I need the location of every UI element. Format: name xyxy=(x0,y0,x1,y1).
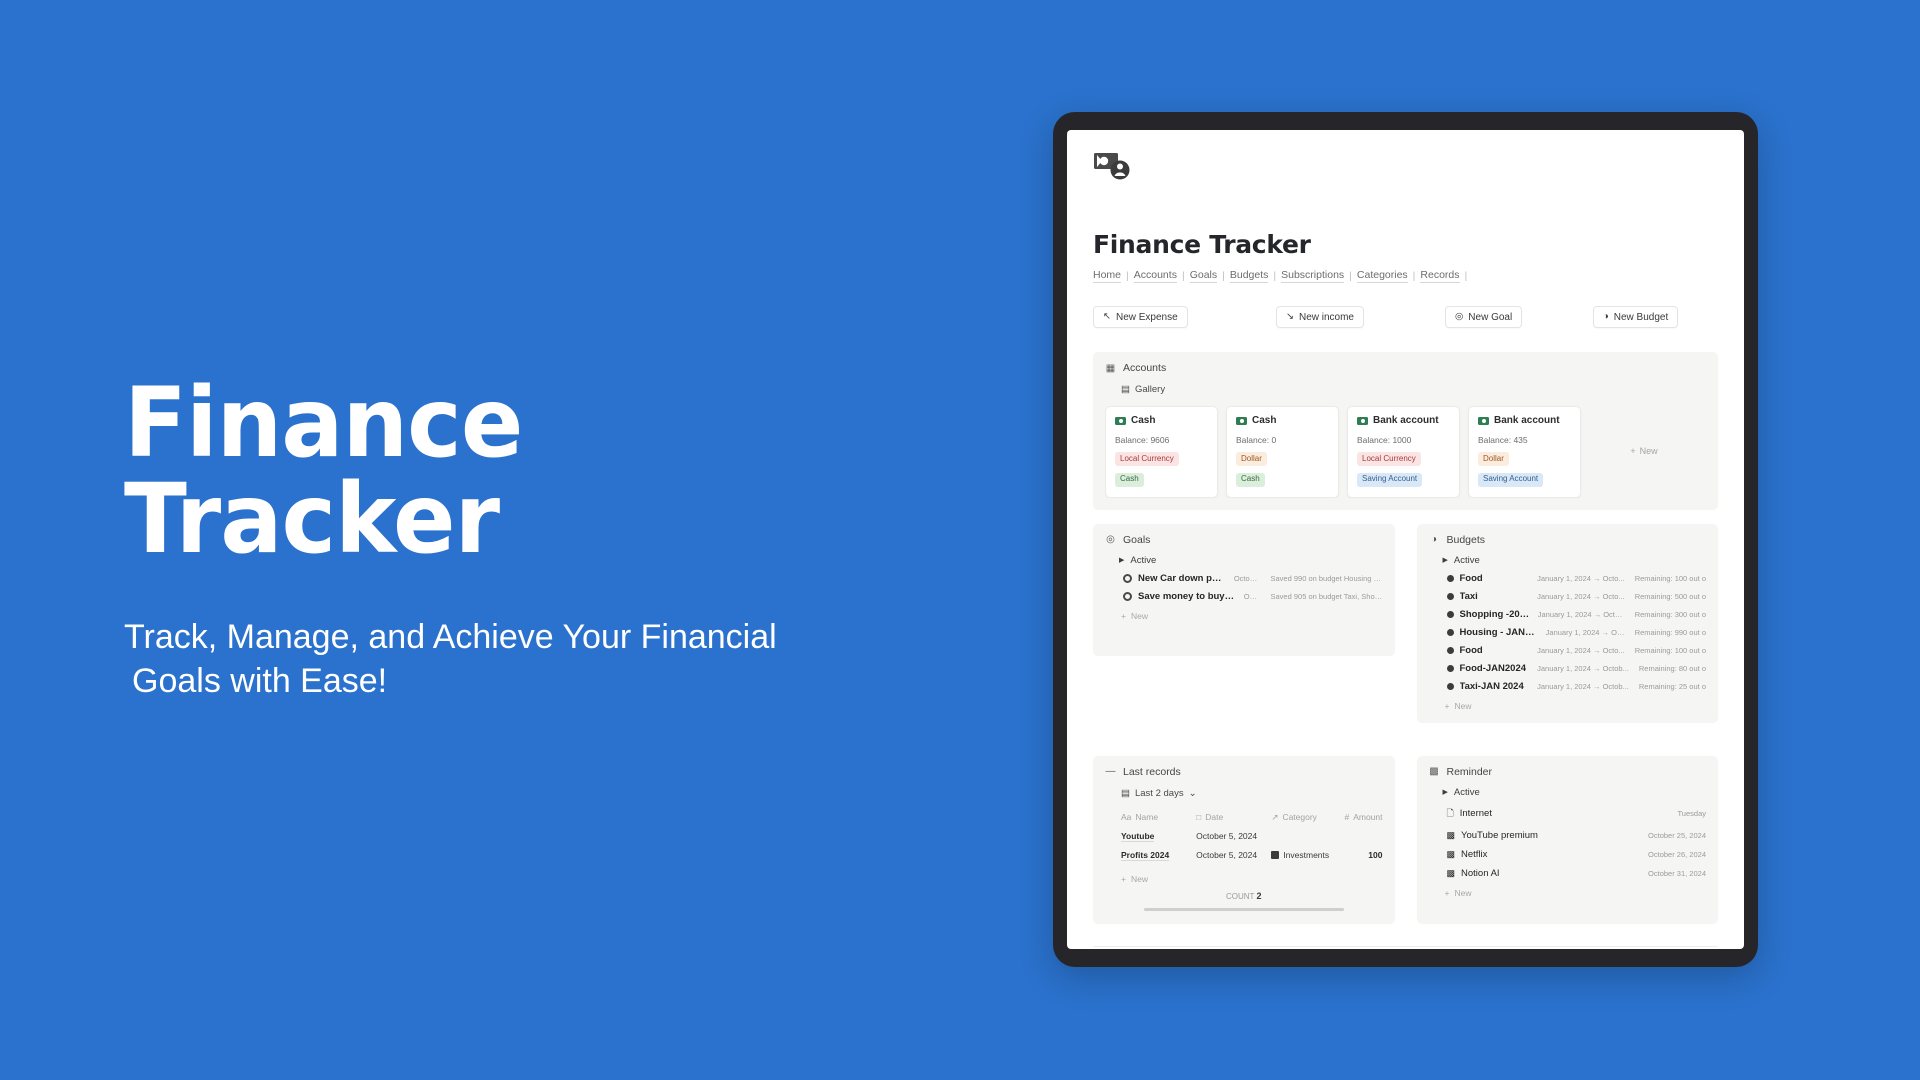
budget-remaining: Remaining: 500 out o xyxy=(1635,592,1706,601)
accounts-view-tab[interactable]: ▤ Gallery xyxy=(1121,384,1706,395)
arrow-up-left-icon: ↖ xyxy=(1103,312,1111,322)
budget-name: Taxi xyxy=(1460,591,1478,602)
target-icon: ◎ xyxy=(1455,312,1463,322)
record-category-text: Investments xyxy=(1283,850,1329,860)
calendar-icon: □ xyxy=(1196,812,1201,822)
nav-separator: | xyxy=(1413,270,1416,282)
goal-detail: Saved 905 on budget Taxi, Shopping -2 xyxy=(1271,592,1383,601)
nav-link-home[interactable]: Home xyxy=(1093,269,1121,283)
target-icon xyxy=(1123,574,1132,583)
account-card[interactable]: Cash Balance: 0 Dollar Cash xyxy=(1226,406,1339,498)
plus-icon: + xyxy=(1121,611,1126,621)
relation-icon: ↗ xyxy=(1271,812,1278,823)
reminder-item[interactable]: 🗋 Internet Tuesday xyxy=(1447,806,1707,822)
account-type-tag: Saving Account xyxy=(1478,473,1543,487)
records-table: Aa Name □ Date ↗ Category xyxy=(1121,808,1383,884)
account-currency-tag: Local Currency xyxy=(1115,452,1179,466)
account-card-title: Bank account xyxy=(1357,415,1450,426)
budget-remaining: Remaining: 100 out o xyxy=(1635,646,1706,655)
budget-name: Food xyxy=(1460,573,1483,584)
chevron-down-icon: ⌄ xyxy=(1189,788,1197,799)
budget-range: January 1, 2024 → Octo... xyxy=(1538,628,1625,637)
goals-group-label: Active xyxy=(1130,555,1156,566)
budgets-column: ◑ Budgets ▶ Active Food January 1, 2024 … xyxy=(1417,524,1719,723)
new-record-label: New xyxy=(1131,874,1148,884)
budget-item[interactable]: Food January 1, 2024 → Octo... Remaining… xyxy=(1447,573,1707,584)
goal-date: October... xyxy=(1226,574,1261,583)
new-reminder-row[interactable]: + New xyxy=(1445,888,1707,898)
new-goal-label: New Goal xyxy=(1468,312,1512,323)
new-goal-button[interactable]: ◎ New Goal xyxy=(1445,306,1522,328)
horizontal-scrollbar[interactable] xyxy=(1144,908,1344,911)
account-card-title: Cash xyxy=(1236,415,1329,426)
nav-link-accounts[interactable]: Accounts xyxy=(1134,269,1177,283)
budget-range: January 1, 2024 → Octo... xyxy=(1529,592,1625,601)
new-budget-label: New Budget xyxy=(1614,312,1668,323)
pie-chart-icon: ◑ xyxy=(1603,312,1609,322)
account-name: Bank account xyxy=(1494,415,1560,426)
page-title: Finance Tracker xyxy=(1093,230,1718,259)
account-currency-tag: Dollar xyxy=(1478,452,1509,466)
new-account-label: New xyxy=(1640,446,1658,456)
budget-item[interactable]: Shopping -2023 January 1, 2024 → Octo...… xyxy=(1447,609,1707,620)
budget-icon xyxy=(1447,593,1454,600)
accounts-view-label: Gallery xyxy=(1135,384,1165,395)
record-date: October 5, 2024 xyxy=(1196,831,1271,841)
money-icon xyxy=(1357,417,1368,425)
new-account-card[interactable]: + New xyxy=(1589,406,1699,498)
minus-icon: — xyxy=(1105,766,1116,777)
hero-subtitle-line1: Track, Manage, and Achieve Your Financia… xyxy=(124,618,777,656)
budget-icon xyxy=(1447,611,1454,618)
new-budget-row-label: New xyxy=(1454,701,1471,711)
table-row[interactable]: Profits 2024 October 5, 2024 Investments… xyxy=(1121,846,1383,865)
reminder-date: October 26, 2024 xyxy=(1648,850,1706,859)
number-icon: # xyxy=(1344,812,1349,822)
budget-name: Food-JAN2024 xyxy=(1460,663,1527,674)
account-name: Cash xyxy=(1131,415,1155,426)
account-card[interactable]: Bank account Balance: 1000 Local Currenc… xyxy=(1347,406,1460,498)
column-label: Category xyxy=(1282,812,1317,822)
reminder-block: ▩ Reminder ▶ Active 🗋 Internet Tuesday ▩ xyxy=(1417,756,1719,924)
budget-remaining: Remaining: 25 out o xyxy=(1639,682,1706,691)
goals-budgets-row: ◎ Goals ▶ Active New Car down payment Oc… xyxy=(1093,524,1718,723)
budget-range: January 1, 2024 → Octo... xyxy=(1529,574,1625,583)
nav-separator: | xyxy=(1349,270,1352,282)
gallery-icon: ▤ xyxy=(1121,384,1130,395)
app-screen: Finance Tracker Home | Accounts | Goals … xyxy=(1067,130,1744,949)
calendar-icon: ▩ xyxy=(1447,868,1456,879)
account-balance: Balance: 435 xyxy=(1478,435,1571,445)
budget-name: Taxi-JAN 2024 xyxy=(1460,681,1524,692)
hero-subtitle-line2: Goals with Ease! xyxy=(124,659,844,703)
goals-title: Goals xyxy=(1123,534,1150,546)
device-frame: Finance Tracker Home | Accounts | Goals … xyxy=(1053,112,1758,967)
record-category: Investments xyxy=(1271,850,1338,860)
budget-remaining: Remaining: 80 out o xyxy=(1639,664,1706,673)
grid-icon: ▦ xyxy=(1105,363,1116,374)
goal-name: New Car down payment xyxy=(1138,573,1226,584)
budget-range: January 1, 2024 → Octob... xyxy=(1529,664,1629,673)
pie-chart-icon: ◑ xyxy=(1429,534,1440,545)
column-header-name[interactable]: Aa Name xyxy=(1121,812,1196,822)
accounts-block: ▦ Accounts ▤ Gallery Cash Balance: 9606 … xyxy=(1093,352,1718,510)
hero-section: Finance Tracker Track, Manage, and Achie… xyxy=(124,375,904,703)
goals-block: ◎ Goals ▶ Active New Car down payment Oc… xyxy=(1093,524,1395,656)
goal-item[interactable]: New Car down payment October... Saved 99… xyxy=(1123,573,1383,584)
budgets-block: ◑ Budgets ▶ Active Food January 1, 2024 … xyxy=(1417,524,1719,723)
budgets-group-label: Active xyxy=(1454,555,1480,566)
account-balance: Balance: 1000 xyxy=(1357,435,1450,445)
money-icon xyxy=(1115,417,1126,425)
records-reminder-row: — Last records ▤ Last 2 days ⌄ Aa Name xyxy=(1093,737,1718,924)
nav-separator: | xyxy=(1273,270,1276,282)
triangle-right-icon: ▶ xyxy=(1443,556,1448,564)
table-row[interactable]: Youtube October 5, 2024 xyxy=(1121,827,1383,846)
reminder-item[interactable]: ▩ Netflix October 26, 2024 xyxy=(1447,849,1707,860)
category-swatch-icon xyxy=(1271,851,1279,859)
column-label: Name xyxy=(1135,812,1158,822)
record-amount: 100 xyxy=(1339,850,1383,860)
records-title: Last records xyxy=(1123,766,1181,778)
column-header-amount[interactable]: # Amount xyxy=(1339,812,1383,822)
goals-header: ◎ Goals xyxy=(1105,534,1383,546)
budget-icon xyxy=(1447,647,1454,654)
footer-divider xyxy=(1093,946,1718,947)
budget-range: January 1, 2024 → Octo... xyxy=(1530,610,1625,619)
account-card-title: Cash xyxy=(1115,415,1208,426)
records-table-header: Aa Name □ Date ↗ Category xyxy=(1121,808,1383,827)
calendar-icon: ▩ xyxy=(1429,766,1440,777)
column-label: Amount xyxy=(1353,812,1382,822)
quick-action-bar: ↖ New Expense ↘ New income ◎ New Goal ◑ … xyxy=(1093,304,1718,330)
plus-icon: + xyxy=(1121,874,1126,884)
account-currency-tag: Local Currency xyxy=(1357,452,1421,466)
record-date: October 5, 2024 xyxy=(1196,850,1271,860)
nav-link-records[interactable]: Records xyxy=(1420,269,1459,283)
budget-item[interactable]: Food-JAN2024 January 1, 2024 → Octob... … xyxy=(1447,663,1707,674)
account-balance: Balance: 0 xyxy=(1236,435,1329,445)
goal-date: Octo... xyxy=(1236,592,1261,601)
reminder-name: Internet xyxy=(1460,808,1492,819)
new-expense-label: New Expense xyxy=(1116,312,1178,323)
money-with-wings-icon xyxy=(1093,150,1135,186)
account-card[interactable]: Cash Balance: 9606 Local Currency Cash xyxy=(1105,406,1218,498)
account-currency-tag: Dollar xyxy=(1236,452,1267,466)
budget-range: January 1, 2024 → Octob... xyxy=(1529,682,1629,691)
nav-link-subscriptions[interactable]: Subscriptions xyxy=(1281,269,1344,283)
reminder-name: YouTube premium xyxy=(1461,830,1538,841)
records-view-tab[interactable]: ▤ Last 2 days ⌄ xyxy=(1121,788,1383,799)
arrow-down-right-icon: ↘ xyxy=(1286,312,1294,322)
budgets-header: ◑ Budgets xyxy=(1429,534,1707,546)
nav-separator: | xyxy=(1182,270,1185,282)
reminder-date: Tuesday xyxy=(1678,809,1707,818)
new-budget-row[interactable]: + New xyxy=(1445,701,1707,711)
new-goal-row[interactable]: + New xyxy=(1121,611,1383,621)
table-icon: ▤ xyxy=(1121,788,1130,799)
reminder-date: October 25, 2024 xyxy=(1648,831,1706,840)
triangle-right-icon: ▶ xyxy=(1443,788,1448,796)
target-icon: ◎ xyxy=(1105,534,1116,545)
count-value: 2 xyxy=(1257,891,1262,901)
account-name: Bank account xyxy=(1373,415,1439,426)
column-header-category[interactable]: ↗ Category xyxy=(1271,812,1338,823)
reminder-group-label: Active xyxy=(1454,787,1480,798)
budget-item[interactable]: Taxi-JAN 2024 January 1, 2024 → Octob...… xyxy=(1447,681,1707,692)
nav-link-categories[interactable]: Categories xyxy=(1357,269,1408,283)
record-name-text: Youtube xyxy=(1121,831,1154,842)
money-icon xyxy=(1478,417,1489,425)
budget-item[interactable]: Taxi January 1, 2024 → Octo... Remaining… xyxy=(1447,591,1707,602)
reminder-column: ▩ Reminder ▶ Active 🗋 Internet Tuesday ▩ xyxy=(1417,737,1719,924)
triangle-right-icon: ▶ xyxy=(1119,556,1124,564)
new-budget-button[interactable]: ◑ New Budget xyxy=(1593,306,1678,328)
budget-range: January 1, 2024 → Octo... xyxy=(1529,646,1625,655)
record-name-text: Profits 2024 xyxy=(1121,850,1169,861)
goal-item[interactable]: Save money to buy treadmill Octo... Save… xyxy=(1123,591,1383,602)
money-icon xyxy=(1236,417,1247,425)
accounts-header: ▦ Accounts xyxy=(1105,362,1706,374)
nav-separator: | xyxy=(1126,270,1129,282)
budget-icon xyxy=(1447,683,1454,690)
last-records-block: — Last records ▤ Last 2 days ⌄ Aa Name xyxy=(1093,756,1395,924)
account-type-tag: Saving Account xyxy=(1357,473,1422,487)
plus-icon: + xyxy=(1630,446,1635,456)
budget-remaining: Remaining: 300 out o xyxy=(1635,610,1706,619)
budget-icon xyxy=(1447,629,1454,636)
accounts-gallery: Cash Balance: 9606 Local Currency Cash C… xyxy=(1105,406,1706,498)
new-record-row[interactable]: + New xyxy=(1121,874,1383,884)
account-balance: Balance: 9606 xyxy=(1115,435,1208,445)
budget-item[interactable]: Food January 1, 2024 → Octo... Remaining… xyxy=(1447,645,1707,656)
calendar-icon: ▩ xyxy=(1447,849,1456,860)
budget-name: Food xyxy=(1460,645,1483,656)
reminder-date: October 31, 2024 xyxy=(1648,869,1706,878)
records-header: — Last records xyxy=(1105,766,1383,778)
budgets-title: Budgets xyxy=(1447,534,1486,546)
account-card[interactable]: Bank account Balance: 435 Dollar Saving … xyxy=(1468,406,1581,498)
budget-name: Housing - JAN2024 xyxy=(1460,627,1538,638)
budget-icon xyxy=(1447,665,1454,672)
reminder-header: ▩ Reminder xyxy=(1429,766,1707,778)
nav-separator: | xyxy=(1465,270,1468,282)
nav-separator: | xyxy=(1222,270,1225,282)
new-goal-row-label: New xyxy=(1131,611,1148,621)
hero-title: Finance Tracker xyxy=(124,375,873,567)
goals-group-toggle[interactable]: ▶ Active xyxy=(1119,555,1383,566)
reminder-group-toggle[interactable]: ▶ Active xyxy=(1443,787,1707,798)
plus-icon: + xyxy=(1445,701,1450,711)
nav-link-budgets[interactable]: Budgets xyxy=(1230,269,1269,283)
goals-column: ◎ Goals ▶ Active New Car down payment Oc… xyxy=(1093,524,1395,723)
records-column: — Last records ▤ Last 2 days ⌄ Aa Name xyxy=(1093,737,1395,924)
reminder-item[interactable]: ▩ Notion AI October 31, 2024 xyxy=(1447,868,1707,879)
new-income-button[interactable]: ↘ New income xyxy=(1276,306,1364,328)
account-card-title: Bank account xyxy=(1478,415,1571,426)
budget-name: Shopping -2023 xyxy=(1460,609,1530,620)
reminder-name: Notion AI xyxy=(1461,868,1500,879)
account-name: Cash xyxy=(1252,415,1276,426)
column-header-date[interactable]: □ Date xyxy=(1196,812,1271,822)
budget-icon xyxy=(1447,575,1454,582)
text-icon: Aa xyxy=(1121,812,1131,822)
target-icon xyxy=(1123,592,1132,601)
plus-icon: + xyxy=(1445,888,1450,898)
record-name: Profits 2024 xyxy=(1121,850,1196,861)
goal-detail: Saved 990 on budget Housing - JAN xyxy=(1271,574,1383,583)
nav-link-goals[interactable]: Goals xyxy=(1190,269,1217,283)
budgets-group-toggle[interactable]: ▶ Active xyxy=(1443,555,1707,566)
new-income-label: New income xyxy=(1299,312,1354,323)
reminder-title: Reminder xyxy=(1447,766,1493,778)
account-type-tag: Cash xyxy=(1236,473,1265,487)
budget-remaining: Remaining: 100 out o xyxy=(1635,574,1706,583)
records-view-label: Last 2 days xyxy=(1135,788,1184,799)
breadcrumb-nav: Home | Accounts | Goals | Budgets | Subs… xyxy=(1093,269,1718,283)
record-count: COUNT 2 xyxy=(1105,891,1383,901)
count-label: COUNT xyxy=(1226,892,1254,901)
accounts-title: Accounts xyxy=(1123,362,1166,374)
goal-name: Save money to buy treadmill xyxy=(1138,591,1236,602)
budget-remaining: Remaining: 990 out o xyxy=(1635,628,1706,637)
hero-subtitle: Track, Manage, and Achieve Your Financia… xyxy=(124,615,844,703)
reminder-item[interactable]: ▩ YouTube premium October 25, 2024 xyxy=(1447,830,1707,841)
column-label: Date xyxy=(1205,812,1223,822)
new-expense-button[interactable]: ↖ New Expense xyxy=(1093,306,1188,328)
page-icon: 🗋 xyxy=(1447,806,1454,822)
calendar-icon: ▩ xyxy=(1447,830,1456,841)
record-name: Youtube xyxy=(1121,831,1196,842)
reminder-name: Netflix xyxy=(1461,849,1487,860)
account-type-tag: Cash xyxy=(1115,473,1144,487)
budget-item[interactable]: Housing - JAN2024 January 1, 2024 → Octo… xyxy=(1447,627,1707,638)
new-reminder-label: New xyxy=(1454,888,1471,898)
